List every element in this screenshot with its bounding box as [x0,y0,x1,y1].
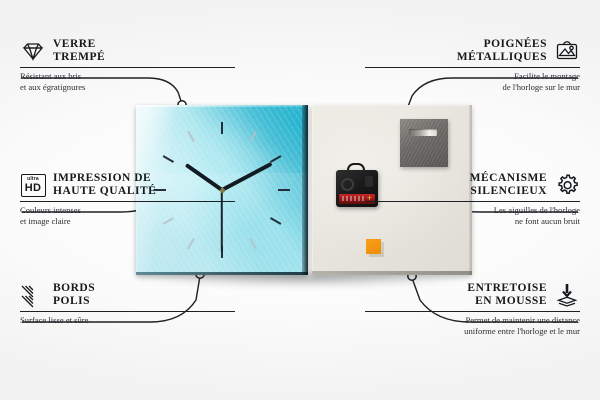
feature-polished-edges: BORDS POLIS Surface lisse et sûre [20,282,235,326]
feature-title-line1: BORDS [53,282,95,294]
feature-subtitle-line2: et aux égratignures [20,82,85,92]
feature-subtitle: Permet de maintenir une distance uniform… [365,315,580,336]
feature-title-line2: EN MOUSSE [475,295,547,307]
metallic-hanger-plate [400,119,448,167]
feature-title: POIGNÉES MÉTALLIQUES [457,38,547,64]
clock-tick [221,122,223,134]
feature-metal-handles: POIGNÉES MÉTALLIQUES Facilite le montage… [365,38,580,92]
feature-divider [20,201,235,202]
feature-divider [365,311,580,312]
clock-tick [187,238,195,249]
diagonal-lines-icon [20,282,46,308]
panel-top-edge [136,105,308,107]
feature-subtitle-line2: uniforme entre l'horloge et le mur [464,326,580,336]
panel-bottom-edge [136,272,308,275]
feature-title: BORDS POLIS [53,282,95,308]
clock-tick [278,189,290,191]
feature-subtitle-line1: Couleurs intenses [20,205,81,215]
feature-hd-print: ultra HD IMPRESSION DE HAUTE QUALITÉ Cou… [20,172,235,226]
feature-title: VERRE TREMPÉ [53,38,105,64]
arrow-down-layers-icon [554,282,580,308]
feature-title: ENTRETOISE EN MOUSSE [467,282,547,308]
feature-subtitle: Facilite le montage de l'horloge sur le … [365,71,580,92]
infographic-canvas: + VERRE TREMPÉ [0,0,600,400]
feature-title-line2: TREMPÉ [53,51,105,63]
feature-subtitle-line1: Permet de maintenir une distance [465,315,580,325]
mechanism-dial [341,178,354,191]
feature-title-line2: MÉTALLIQUES [457,51,547,63]
clock-tick [270,217,281,225]
feature-subtitle-line2: de l'horloge sur le mur [503,82,580,92]
ultra-hd-small-text: ultra [27,177,39,182]
feature-subtitle: Couleurs intenses et image claire [20,205,235,226]
battery-label [342,196,364,201]
feature-subtitle-line2: ne font aucun bruit [515,216,580,226]
feature-subtitle-line2: et image claire [20,216,71,226]
clock-tick [163,155,174,163]
feature-foam-spacer: ENTRETOISE EN MOUSSE Permet de maintenir… [365,282,580,336]
feature-subtitle: Résistant aux bris et aux égratignures [20,71,235,92]
feature-title-line1: VERRE [53,38,96,50]
panel-right-edge [302,105,308,275]
feature-subtitle-line1: Facilite le montage [514,71,580,81]
feature-title-line2: POLIS [53,295,90,307]
feature-title-line2: HAUTE QUALITÉ [53,185,156,197]
feature-title-line1: POIGNÉES [484,38,547,50]
back-panel-bottom-edge [312,271,472,275]
foam-spacer [366,239,381,254]
feature-title-line2: SILENCIEUX [470,185,547,197]
ultra-hd-icon: ultra HD [20,172,46,198]
feature-title-line1: MÉCANISME [470,172,547,184]
feature-subtitle-line1: Surface lisse et sûre [20,315,89,325]
feature-divider [20,311,235,312]
feature-divider [20,67,235,68]
feature-title: MÉCANISME SILENCIEUX [470,172,547,198]
feature-silent-mechanism: MÉCANISME SILENCIEUX Les aiguilles de l'… [365,172,580,226]
feature-subtitle-line1: Résistant aux bris [20,71,81,81]
hanger-slot [409,129,437,136]
picture-frame-hanger-icon [554,38,580,64]
feature-title: IMPRESSION DE HAUTE QUALITÉ [53,172,156,198]
feature-subtitle-line1: Les aiguilles de l'horloge [494,205,580,215]
feature-subtitle: Les aiguilles de l'horloge ne font aucun… [365,205,580,226]
diamond-icon [20,38,46,64]
clock-tick [270,155,281,163]
clock-tick [249,131,257,142]
feature-divider [365,67,580,68]
clock-tick [187,131,195,142]
feature-tempered-glass: VERRE TREMPÉ Résistant aux bris et aux é… [20,38,235,92]
feature-subtitle: Surface lisse et sûre [20,315,235,326]
feature-divider [365,201,580,202]
ultra-hd-large-text: HD [25,183,42,194]
feature-title-line1: IMPRESSION DE [53,172,151,184]
gear-icon [554,172,580,198]
feature-title-line1: ENTRETOISE [467,282,547,294]
clock-tick [249,238,257,249]
